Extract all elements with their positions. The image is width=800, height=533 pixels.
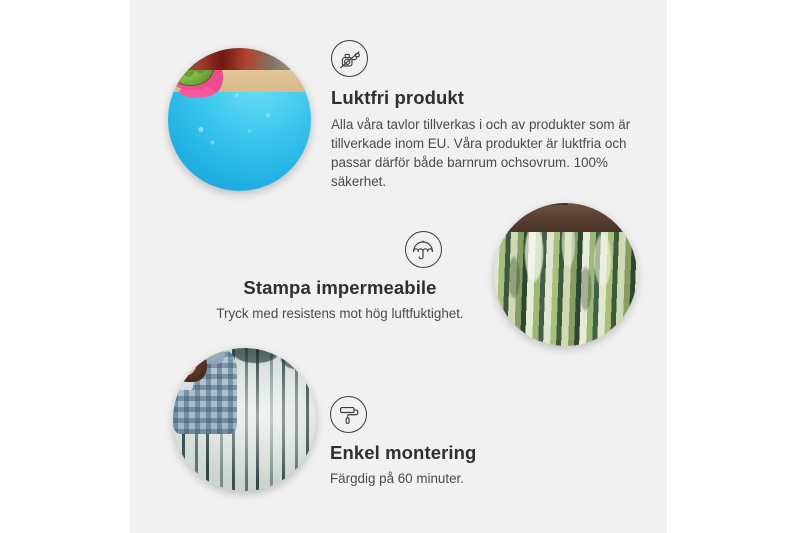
umbrella-icon: [405, 231, 442, 268]
photo-bath: [494, 203, 637, 346]
white-flowers: [494, 203, 522, 223]
feature-waterproof: Stampa impermeabile Tryck med resistens …: [196, 231, 484, 323]
paint-roller-icon: [330, 396, 367, 433]
feature-body: Alla våra tavlor tillverkas i och av pro…: [331, 115, 631, 191]
photo-ocean: [168, 48, 311, 191]
feature-assembly: Enkel montering Färgdig på 60 minuter.: [330, 396, 600, 488]
feature-title: Stampa impermeabile: [196, 277, 484, 299]
feature-odourless: Luktfri produkt Alla våra tavlor tillver…: [331, 40, 631, 191]
feature-body: Färgdig på 60 minuter.: [330, 469, 600, 488]
no-fragrance-bottle-icon: [331, 40, 368, 77]
feature-body: Tryck med resistens mot hög luftfuktighe…: [196, 304, 484, 323]
feature-title: Luktfri produkt: [331, 87, 631, 109]
photo-forest: [173, 348, 316, 491]
promo-banner: Luktfri produkt Alla våra tavlor tillver…: [0, 0, 800, 533]
woman-smile: [173, 348, 184, 353]
feature-title: Enkel montering: [330, 442, 600, 464]
ocean-bottom-strip: [168, 48, 311, 70]
